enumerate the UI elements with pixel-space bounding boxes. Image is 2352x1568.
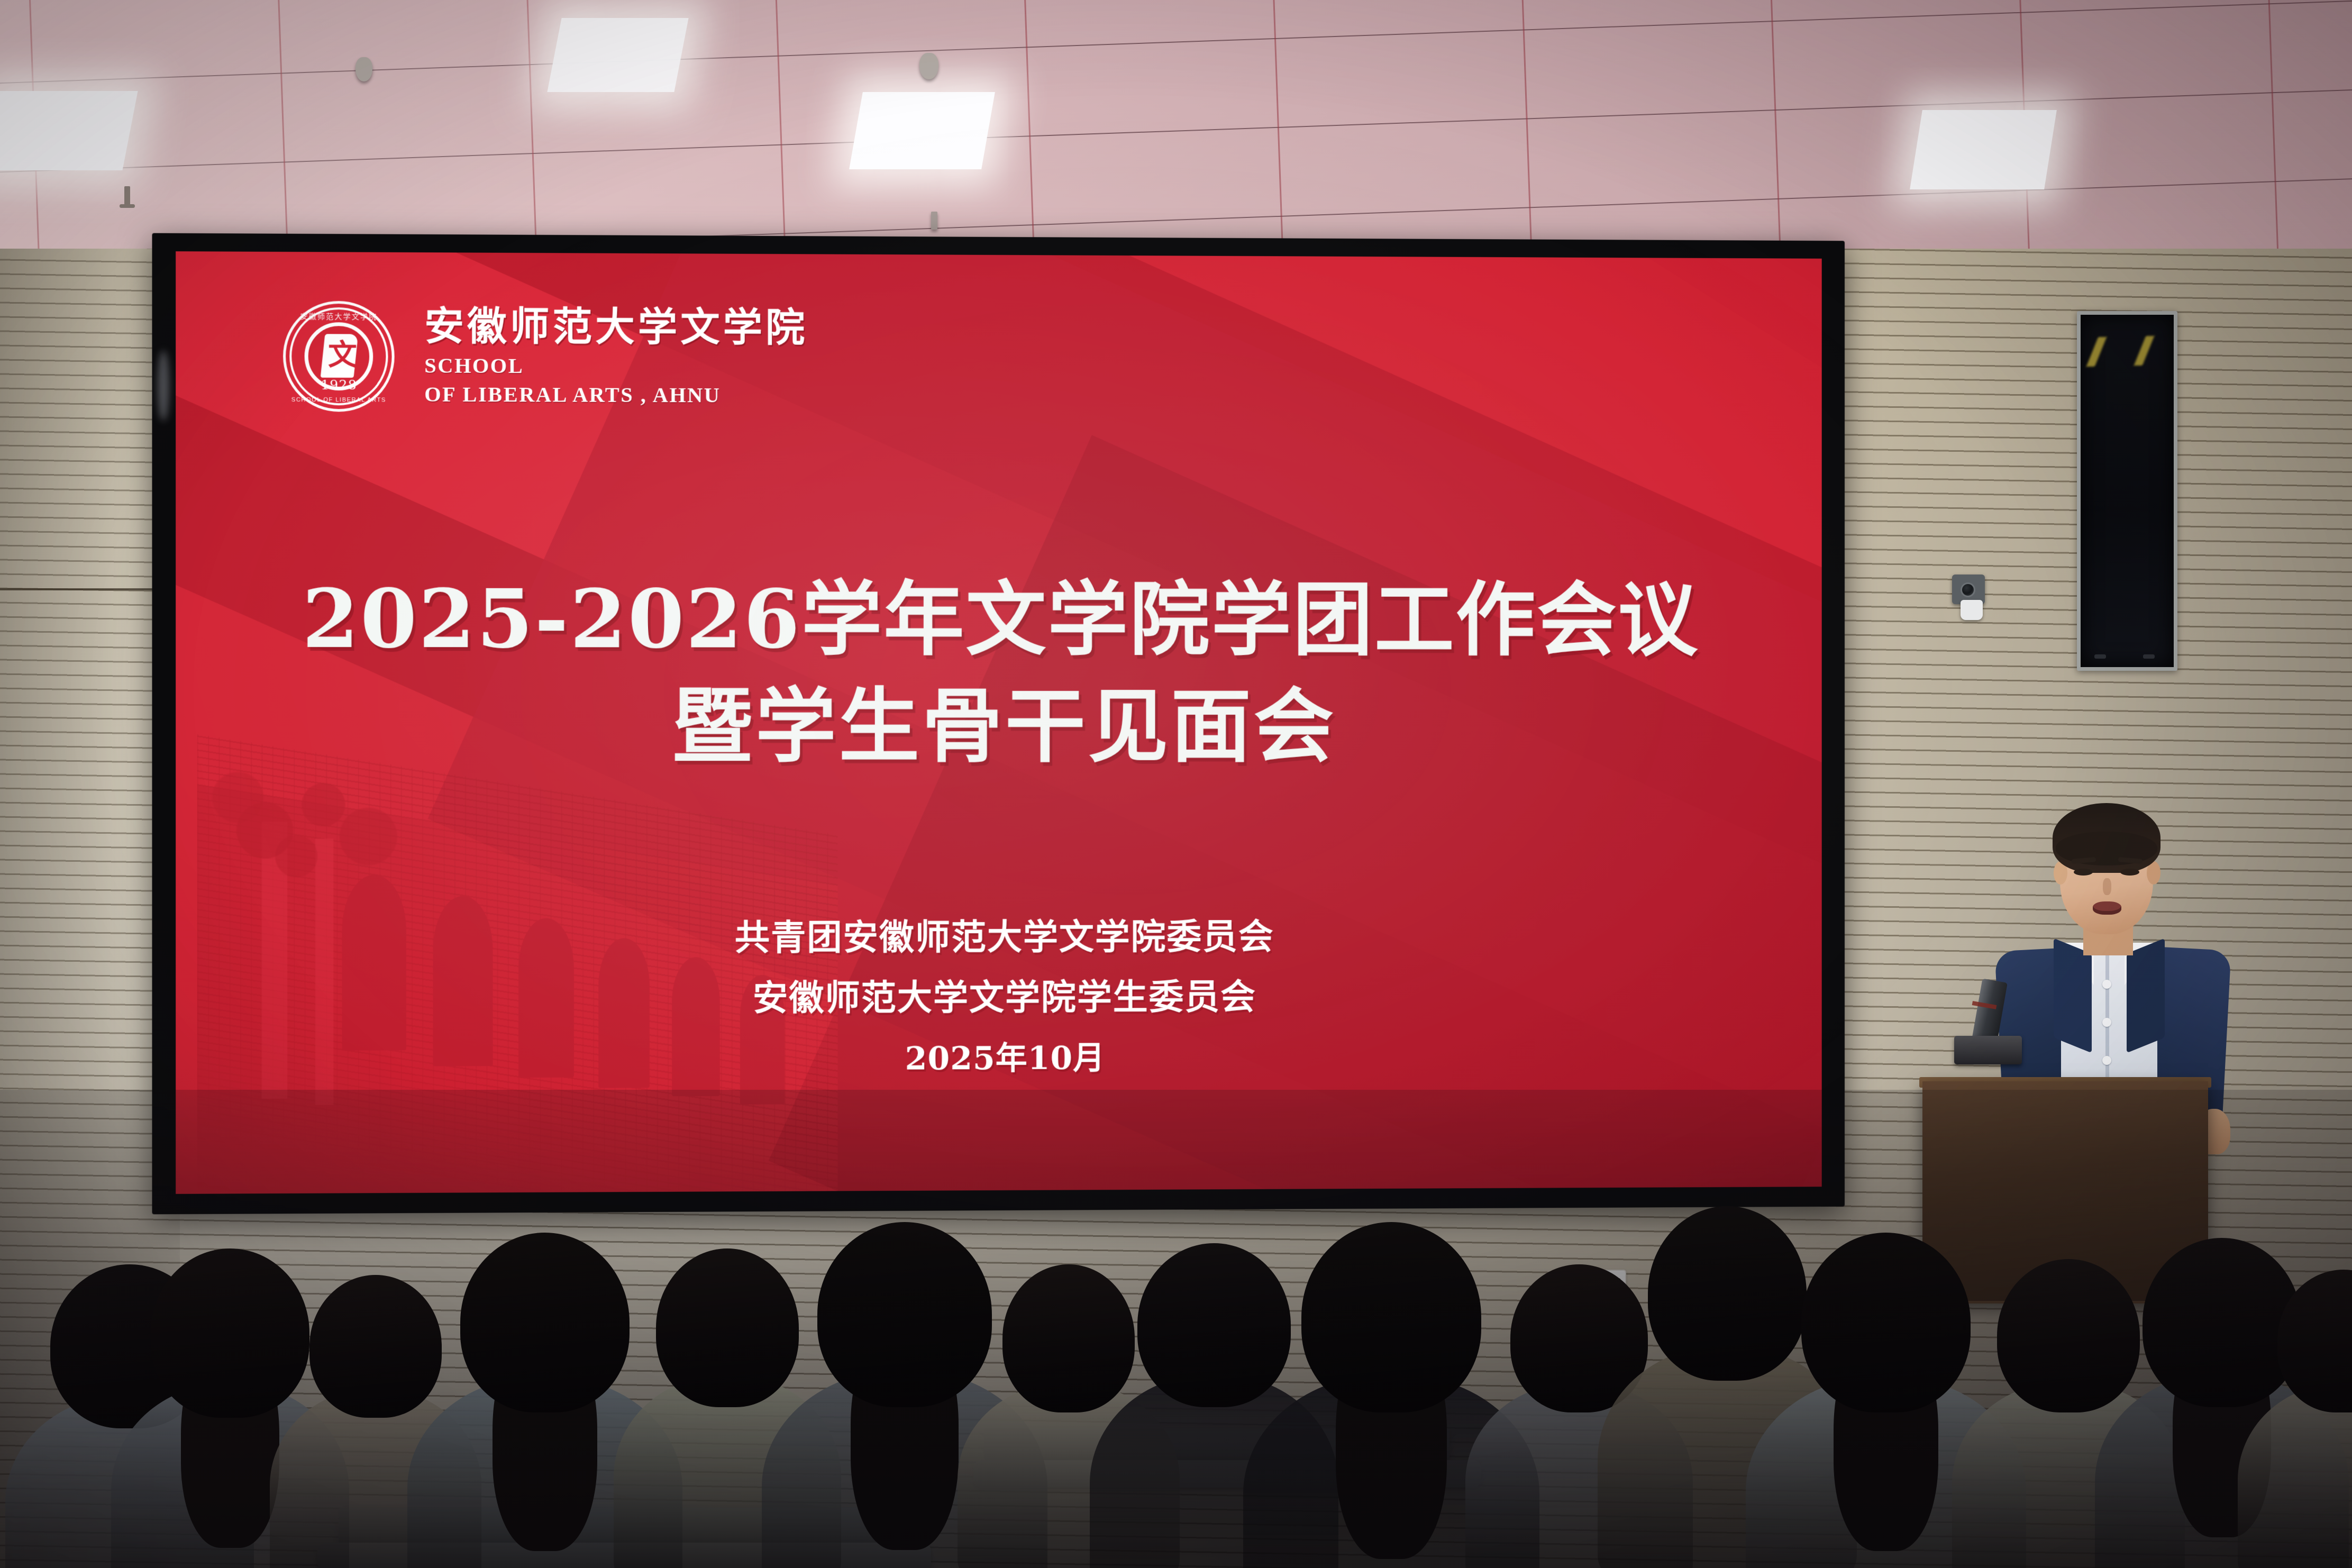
presenter-hair xyxy=(2053,803,2160,873)
ceiling-light-panel xyxy=(849,92,995,169)
presenter-nose xyxy=(2103,878,2111,895)
audience-member-head xyxy=(460,1233,630,1412)
camera-mount xyxy=(1961,600,1983,620)
audience-member-head xyxy=(1801,1233,1971,1412)
sprinkler-head-icon xyxy=(124,186,130,207)
presentation-slide[interactable]: 安徽师范大学文学院 文 1928 SCHOOL OF LIBERAL ARTS … xyxy=(176,251,1822,1194)
smoke-detector-icon xyxy=(355,57,372,81)
microphone-base xyxy=(1954,1036,2022,1064)
conference-photo: 安徽师范大学文学院 文 1928 SCHOOL OF LIBERAL ARTS … xyxy=(0,0,2352,1568)
audience-member xyxy=(2238,1270,2352,1568)
panel-glint xyxy=(2086,337,2107,367)
recessed-panel xyxy=(2077,311,2177,671)
ceiling-light-panel xyxy=(0,91,138,170)
sprinkler-head-icon xyxy=(931,212,937,230)
smoke-detector-icon xyxy=(919,53,938,79)
presenter-eye xyxy=(2120,869,2139,876)
ceiling-light-panel xyxy=(1910,110,2057,189)
security-camera-icon xyxy=(1952,575,1993,607)
presenter-lapel-left xyxy=(2054,938,2092,1053)
presenter-mouth xyxy=(2093,901,2121,915)
panel-vent-slot xyxy=(2143,654,2155,659)
presenter-lapel-right xyxy=(2127,938,2165,1053)
audience-member-head xyxy=(1301,1222,1481,1412)
slide-vignette xyxy=(176,251,1822,1194)
presentation-screen-bezel: 安徽师范大学文学院 文 1928 SCHOOL OF LIBERAL ARTS … xyxy=(152,233,1845,1215)
audience-member-head xyxy=(2277,1270,2352,1412)
camera-lens-icon xyxy=(1961,582,1975,597)
presenter-eye xyxy=(2074,869,2093,876)
ceiling-light-panel xyxy=(547,18,688,92)
panel-glint xyxy=(2134,336,2155,366)
bezel-highlight xyxy=(158,350,169,421)
wall-panel-seam xyxy=(0,588,154,590)
audience: 婷 边 xyxy=(0,1090,2352,1568)
panel-vent-slot xyxy=(2094,654,2106,659)
